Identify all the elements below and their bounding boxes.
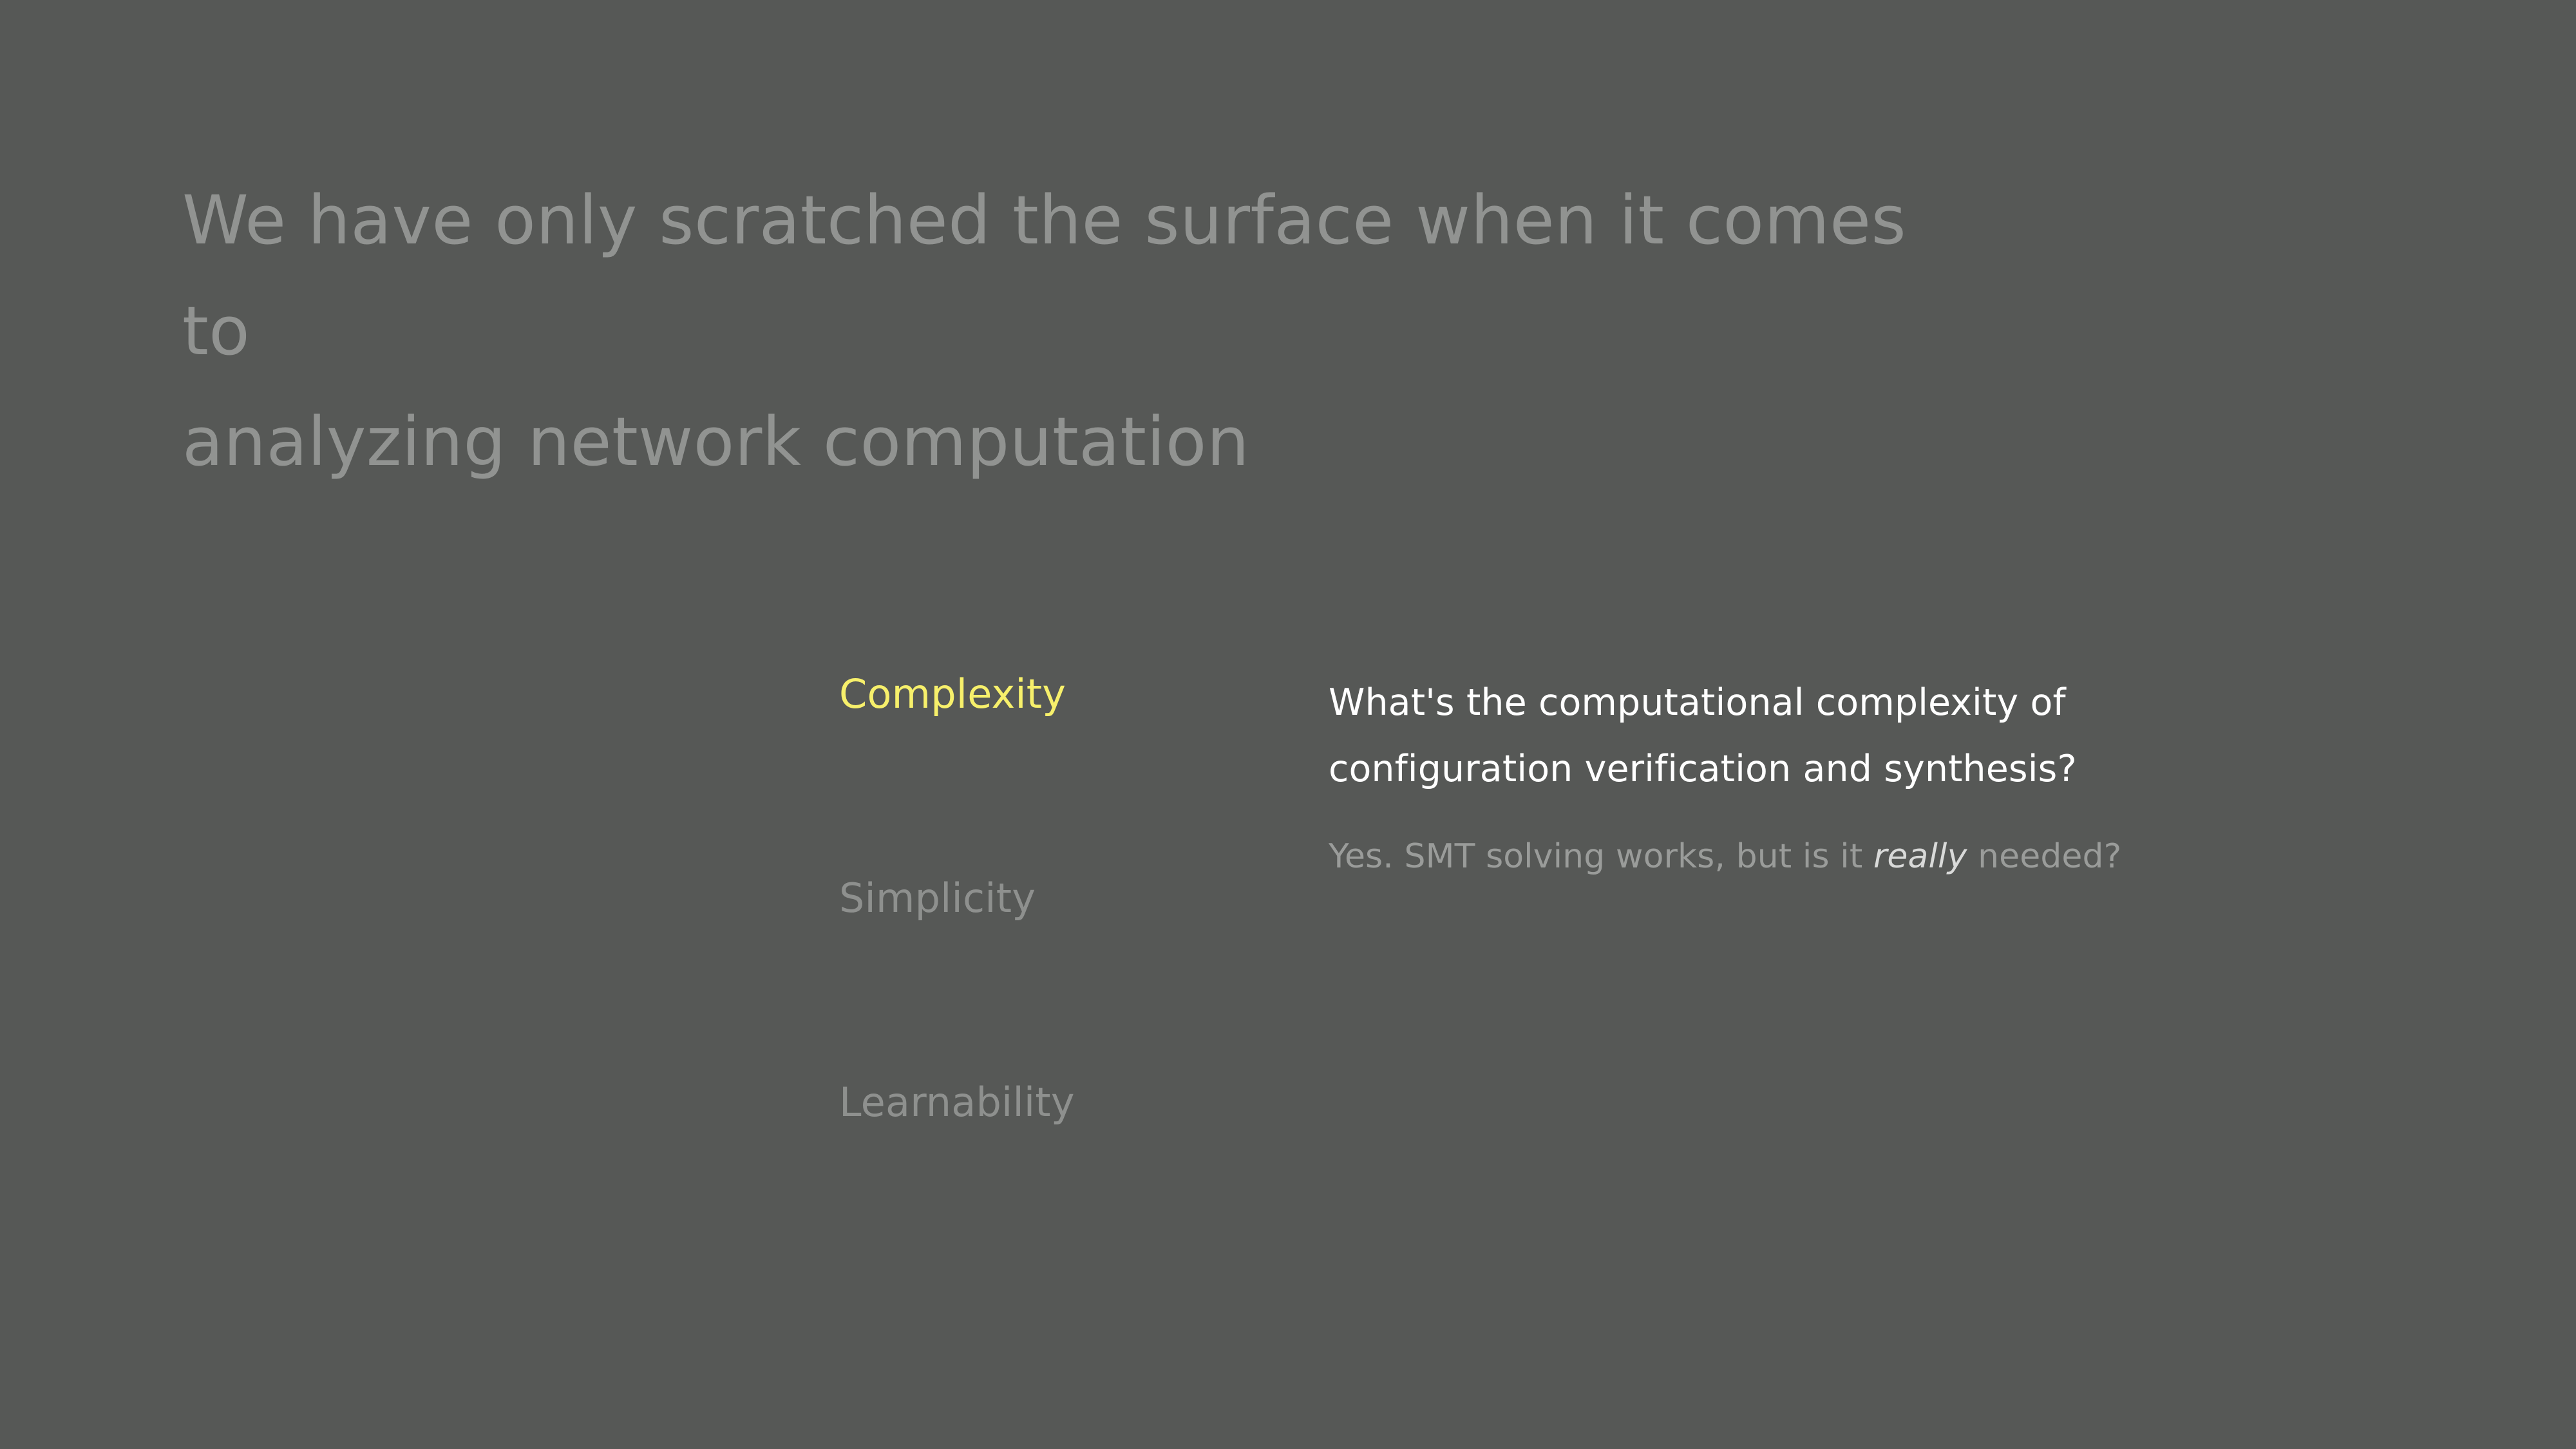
topic-item-simplicity[interactable]: Simplicity <box>839 874 1290 1078</box>
topic-item-label: Complexity <box>839 670 1066 717</box>
slide-canvas: We have only scratched the surface when … <box>0 0 2576 1449</box>
page-title: We have only scratched the surface when … <box>182 165 1960 497</box>
topic-detail-panel: What's the computational complexity of c… <box>1329 670 2314 880</box>
topic-item-label: Simplicity <box>839 875 1036 922</box>
detail-answer: Yes. SMT solving works, but is it really… <box>1329 802 2314 880</box>
topic-item-learnability[interactable]: Learnability <box>839 1078 1290 1282</box>
detail-question: What's the computational complexity of c… <box>1329 670 2314 802</box>
topic-item-complexity[interactable]: Complexity <box>839 670 1290 874</box>
topic-list: Complexity Simplicity Learnability <box>839 670 1290 1282</box>
detail-answer-lead: Yes. SMT solving works, but is it <box>1329 837 1873 876</box>
detail-answer-trail: needed? <box>1967 837 2121 876</box>
topic-item-label: Learnability <box>839 1079 1075 1126</box>
detail-answer-emphasis: really <box>1873 837 1967 876</box>
